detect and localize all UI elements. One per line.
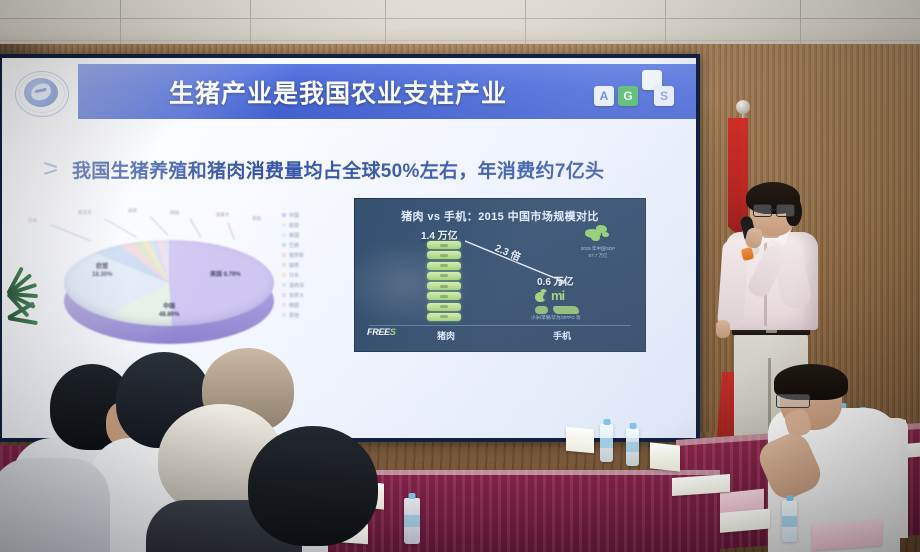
slide-bullet-text: 我国生猪养殖和猪肉消费量均占全球50%左右，年消费约7亿头: [72, 156, 604, 183]
ags-brand-logo-icon: A G S: [592, 72, 680, 114]
legend-item: 日本: [282, 270, 356, 280]
phone-brand-caption: 小米/苹果/华为/OPPO 等: [531, 315, 581, 321]
legend-item: 中国: [282, 210, 356, 220]
pig-icon: [427, 251, 461, 259]
pig-icon: [427, 313, 461, 321]
legend-item: 俄罗斯: [282, 250, 356, 260]
pig-icon: [427, 303, 461, 311]
ceiling: [0, 0, 920, 46]
pie-chart-body: 中国 48.80% 欧盟 18.30% 美国 8.79%: [64, 232, 274, 352]
audience-member: [248, 426, 384, 552]
brand-tile-g: G: [618, 86, 638, 106]
water-bottle: [782, 500, 797, 542]
document: [812, 520, 882, 551]
phone-value-label: 0.6 万亿: [537, 273, 574, 288]
mi-logo-icon: mi: [551, 289, 564, 302]
legend-item: 欧盟: [282, 220, 356, 230]
pig-icon: [427, 241, 461, 249]
water-bottle: [404, 498, 420, 544]
legend-item: 越南: [282, 260, 356, 270]
pork-value-label: 1.4 万亿: [421, 227, 458, 242]
legend-item: 加拿大: [282, 290, 356, 300]
gdp-note: 2015 年中国GDP 67.7 万亿: [569, 246, 627, 260]
legend-item: 韩国: [282, 300, 356, 310]
brand-tile-s: S: [654, 86, 674, 106]
legend-item: 墨西哥: [282, 280, 356, 290]
legend-item: 美国: [282, 230, 356, 240]
glasses-icon: [776, 394, 810, 408]
potted-plant: [0, 258, 34, 338]
market-chart-title: 猪肉 vs 手机：2015 中国市场规模对比: [355, 208, 645, 224]
pie-label-eu: 欧盟 18.30%: [92, 264, 112, 279]
huawei-logo-icon: [535, 306, 548, 314]
pork-icon-stack: [427, 241, 461, 321]
pig-icon: [427, 292, 461, 300]
pie-chart: 日本 墨西哥 越南 韩国 加拿大 其他 中国 48.80%: [20, 198, 360, 373]
pie-label-usa: 美国 8.79%: [210, 272, 241, 280]
oppo-logo-icon: [553, 306, 579, 314]
name-card: [650, 442, 680, 471]
slide-title-bar: 生猪产业是我国农业支柱产业 A G S: [78, 64, 696, 119]
apple-logo-icon: [535, 289, 546, 302]
water-bottle: [626, 428, 639, 466]
organization-emblem-icon: [12, 70, 70, 116]
water-bottle: [600, 424, 613, 462]
slide-bullet-row: 我国生猪养殖和猪肉消费量均占全球50%左右，年消费约7亿头: [44, 154, 674, 184]
flag-pole-finial-icon: [736, 100, 750, 114]
axis-label-phone: 手机: [543, 329, 581, 342]
conference-room-photo: 生猪产业是我国农业支柱产业 A G S 我国生猪养殖和猪肉消费量均占全球50%左…: [0, 0, 920, 552]
china-map-icon: [583, 223, 611, 243]
pig-icon: [427, 272, 461, 280]
pie-chart-legend: 中国 欧盟 美国 巴西 俄罗斯 越南 日本 墨西哥 加拿大 韩国 其他: [282, 210, 356, 320]
audience-member: [0, 438, 90, 552]
legend-item: 巴西: [282, 240, 356, 250]
slide-title: 生猪产业是我国农业支柱产业: [78, 64, 598, 119]
pig-icon: [427, 282, 461, 290]
brand-tile-a: A: [594, 86, 614, 106]
frees-logo-icon: FREES: [367, 327, 396, 337]
market-comparison-chart: 猪肉 vs 手机：2015 中国市场规模对比 1.4 万亿: [354, 198, 646, 352]
chevron-arrow-bullet-icon: [44, 163, 60, 175]
pie-label-china: 中国 48.80%: [159, 304, 179, 319]
legend-item: 其他: [282, 310, 356, 320]
name-card: [566, 427, 594, 453]
phone-brand-logos-row1: mi: [535, 287, 597, 303]
glasses-icon: [752, 204, 796, 215]
pig-icon: [427, 262, 461, 270]
axis-label-pork: 猪肉: [427, 329, 465, 342]
